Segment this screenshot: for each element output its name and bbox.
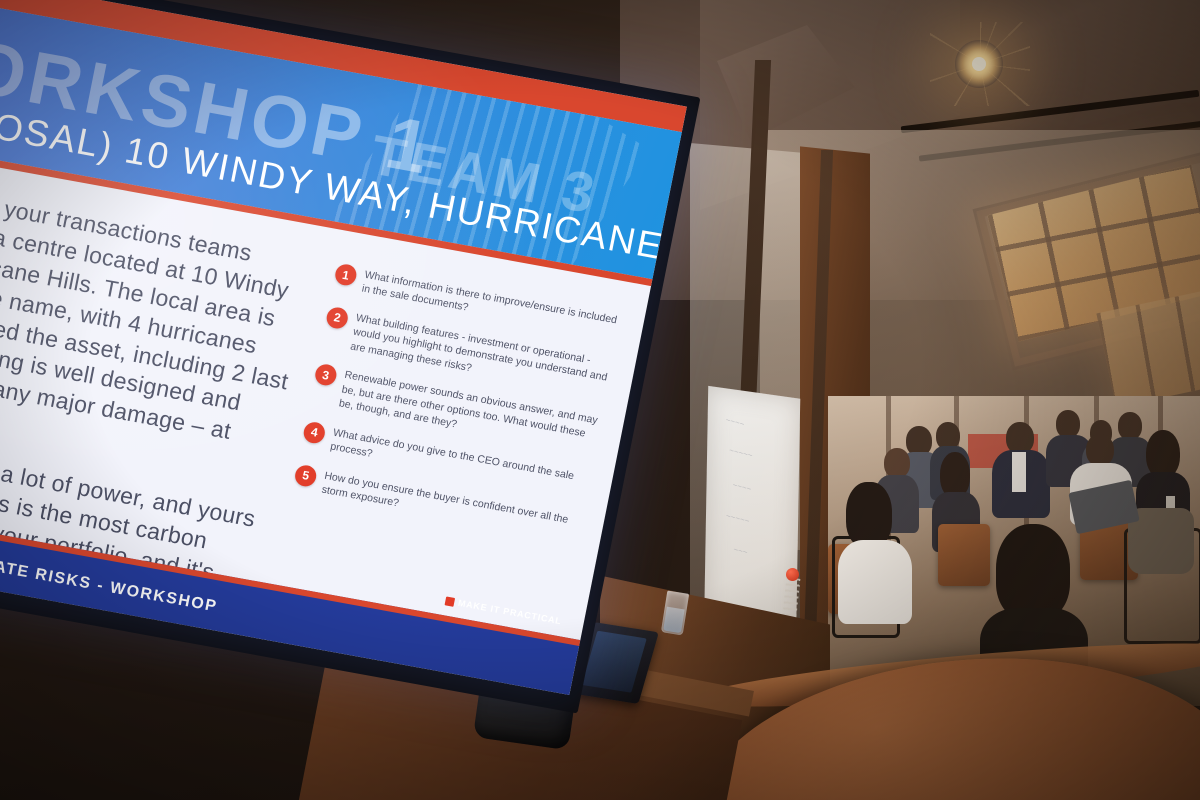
question-number-badge: 5 [293, 464, 318, 488]
audience-chair [938, 524, 990, 586]
narrative-paragraph: 8 years ago, your transactions teams bou… [0, 170, 316, 485]
whiteboard-marker-icon [786, 568, 799, 581]
ceiling-downlight-icon [955, 40, 1003, 88]
question-number-badge: 2 [325, 306, 350, 330]
question-number-badge: 3 [313, 363, 338, 387]
slide: WORKSHOP 1 TEAM 3 (DISPOSAL) 10 WINDY WA… [0, 0, 687, 695]
conference-room-photo: ~~~~ ~~~~~ ~~~~ ~~~~~ ~~~ [0, 0, 1200, 800]
presentation-screen-wrapper: WORKSHOP 1 TEAM 3 (DISPOSAL) 10 WINDY WA… [0, 0, 780, 800]
presentation-screen[interactable]: WORKSHOP 1 TEAM 3 (DISPOSAL) 10 WINDY WA… [0, 0, 687, 695]
question-number-badge: 1 [333, 263, 358, 287]
slide-questions-column: 1 What information is there to improve/e… [265, 236, 649, 640]
narrative-paragraph: It's rare for operating Data Centres to … [0, 653, 219, 695]
brand-mark-icon [444, 596, 455, 606]
question-number-badge: 4 [302, 420, 327, 444]
